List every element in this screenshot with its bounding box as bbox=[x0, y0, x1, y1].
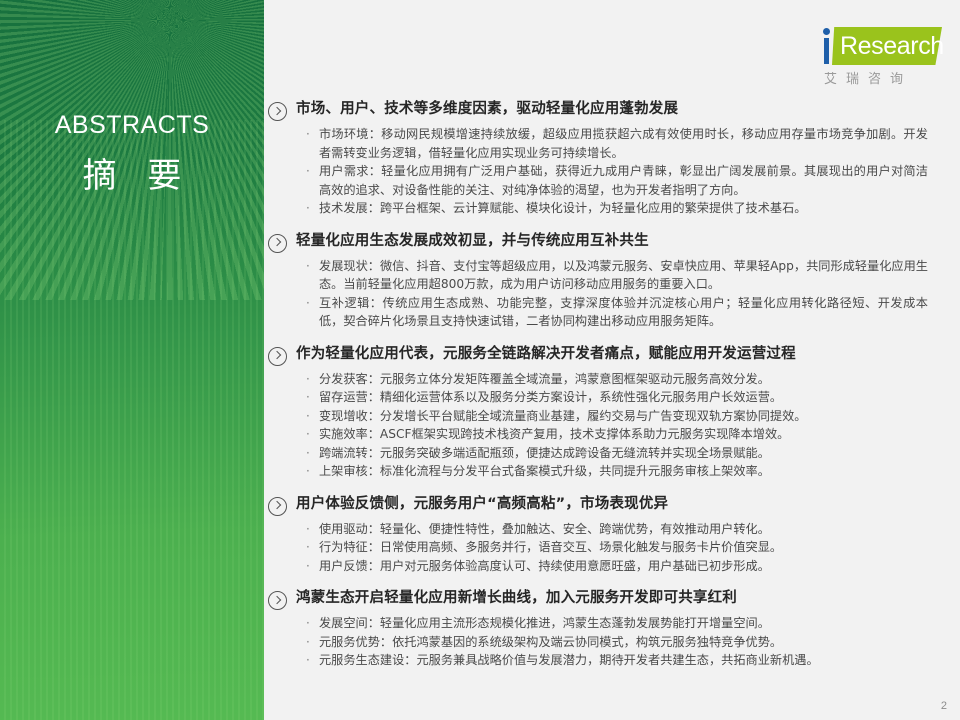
bullet-dot-icon: · bbox=[306, 125, 312, 144]
list-item: ·分发获客：元服务立体分发矩阵覆盖全域流量，鸿蒙意图框架驱动元服务高效分发。 bbox=[268, 370, 928, 389]
bullet-dot-icon: · bbox=[306, 162, 312, 181]
section-header: 轻量化应用生态发展成效初显，并与传统应用互补共生 bbox=[268, 232, 928, 253]
chevron-right-circle-icon bbox=[268, 234, 287, 253]
bullet-dot-icon: · bbox=[306, 538, 312, 557]
vertical-stripe-decoration bbox=[0, 120, 264, 720]
bullet-dot-icon: · bbox=[306, 199, 312, 218]
list-item: ·上架审核：标准化流程与分发平台式备案模式升级，共同提升元服务审核上架效率。 bbox=[268, 462, 928, 481]
list-item: ·互补逻辑：传统应用生态成熟、功能完整，支撑深度体验并沉淀核心用户；轻量化应用转… bbox=[268, 294, 928, 331]
list-item: ·元服务优势：依托鸿蒙基因的系统级架构及端云协同模式，构筑元服务独特竞争优势。 bbox=[268, 633, 928, 652]
logo-i-dot-icon bbox=[823, 28, 830, 35]
bullet-text: 留存运营：精细化运营体系以及服务分类方案设计，系统性强化元服务用户长效运营。 bbox=[319, 388, 928, 407]
bullet-text: 技术发展：跨平台框架、云计算赋能、模块化设计，为轻量化应用的繁荣提供了技术基石。 bbox=[319, 199, 928, 218]
section-header: 市场、用户、技术等多维度因素，驱动轻量化应用蓬勃发展 bbox=[268, 100, 928, 121]
section: 鸿蒙生态开启轻量化应用新增长曲线，加入元服务开发即可共享红利 ·发展空间：轻量化… bbox=[268, 589, 928, 670]
bullet-text: 跨端流转：元服务突破多端适配瓶颈，便捷达成跨设备无缝流转并实现全场景赋能。 bbox=[319, 444, 928, 463]
chevron-right-circle-icon bbox=[268, 102, 287, 121]
bullet-dot-icon: · bbox=[306, 520, 312, 539]
iresearch-logo: Research 艾瑞咨询 bbox=[820, 26, 942, 96]
chevron-right-circle-icon bbox=[268, 497, 287, 516]
section-header: 作为轻量化应用代表，元服务全链路解决开发者痛点，赋能应用开发运营过程 bbox=[268, 345, 928, 366]
bullet-dot-icon: · bbox=[306, 370, 312, 389]
bullet-text: 上架审核：标准化流程与分发平台式备案模式升级，共同提升元服务审核上架效率。 bbox=[319, 462, 928, 481]
section-title: 鸿蒙生态开启轻量化应用新增长曲线，加入元服务开发即可共享红利 bbox=[296, 589, 737, 608]
bullet-text: 互补逻辑：传统应用生态成熟、功能完整，支撑深度体验并沉淀核心用户；轻量化应用转化… bbox=[319, 294, 928, 331]
section-header: 用户体验反馈侧，元服务用户“高频高粘”，市场表现优异 bbox=[268, 495, 928, 516]
bullet-dot-icon: · bbox=[306, 257, 312, 276]
logo-chinese-name: 艾瑞咨询 bbox=[824, 68, 912, 87]
section-title: 用户体验反馈侧，元服务用户“高频高粘”，市场表现优异 bbox=[296, 495, 668, 514]
list-item: ·跨端流转：元服务突破多端适配瓶颈，便捷达成跨设备无缝流转并实现全场景赋能。 bbox=[268, 444, 928, 463]
list-item: ·技术发展：跨平台框架、云计算赋能、模块化设计，为轻量化应用的繁荣提供了技术基石… bbox=[268, 199, 928, 218]
section-header: 鸿蒙生态开启轻量化应用新增长曲线，加入元服务开发即可共享红利 bbox=[268, 589, 928, 610]
list-item: ·发展现状：微信、抖音、支付宝等超级应用，以及鸿蒙元服务、安卓快应用、苹果轻Ap… bbox=[268, 257, 928, 294]
bullet-text: 分发获客：元服务立体分发矩阵覆盖全域流量，鸿蒙意图框架驱动元服务高效分发。 bbox=[319, 370, 928, 389]
list-item: ·发展空间：轻量化应用主流形态规模化推进，鸿蒙生态蓬勃发展势能打开增量空间。 bbox=[268, 614, 928, 633]
section: 用户体验反馈侧，元服务用户“高频高粘”，市场表现优异 ·使用驱动：轻量化、便捷性… bbox=[268, 495, 928, 576]
section-title: 轻量化应用生态发展成效初显，并与传统应用互补共生 bbox=[296, 232, 649, 251]
page-number: 2 bbox=[941, 700, 947, 712]
section-bullet-list: ·发展现状：微信、抖音、支付宝等超级应用，以及鸿蒙元服务、安卓快应用、苹果轻Ap… bbox=[268, 257, 928, 331]
section-title: 市场、用户、技术等多维度因素，驱动轻量化应用蓬勃发展 bbox=[296, 100, 678, 119]
section: 市场、用户、技术等多维度因素，驱动轻量化应用蓬勃发展 ·市场环境：移动网民规模增… bbox=[268, 100, 928, 218]
section: 作为轻量化应用代表，元服务全链路解决开发者痛点，赋能应用开发运营过程 ·分发获客… bbox=[268, 345, 928, 481]
list-item: ·行为特征：日常使用高频、多服务并行，语音交互、场景化触发与服务卡片价值突显。 bbox=[268, 538, 928, 557]
logo-wordmark: Research bbox=[840, 32, 944, 60]
section-bullet-list: ·市场环境：移动网民规模增速持续放缓，超级应用揽获超六成有效使用时长，移动应用存… bbox=[268, 125, 928, 218]
bullet-dot-icon: · bbox=[306, 425, 312, 444]
bullet-dot-icon: · bbox=[306, 444, 312, 463]
abstract-sections: 市场、用户、技术等多维度因素，驱动轻量化应用蓬勃发展 ·市场环境：移动网民规模增… bbox=[268, 100, 928, 684]
bullet-text: 用户反馈：用户对元服务体验高度认可、持续使用意愿旺盛，用户基础已初步形成。 bbox=[319, 557, 928, 576]
section: 轻量化应用生态发展成效初显，并与传统应用互补共生 ·发展现状：微信、抖音、支付宝… bbox=[268, 232, 928, 331]
sidebar-panel: ABSTRACTS 摘 要 bbox=[0, 0, 264, 720]
list-item: ·使用驱动：轻量化、便捷性特性，叠加触达、安全、跨端优势，有效推动用户转化。 bbox=[268, 520, 928, 539]
bullet-text: 市场环境：移动网民规模增速持续放缓，超级应用揽获超六成有效使用时长，移动应用存量… bbox=[319, 125, 928, 162]
bullet-dot-icon: · bbox=[306, 633, 312, 652]
list-item: ·市场环境：移动网民规模增速持续放缓，超级应用揽获超六成有效使用时长，移动应用存… bbox=[268, 125, 928, 162]
slide: ABSTRACTS 摘 要 Research 艾瑞咨询 市场、用户、技术等多维度… bbox=[0, 0, 960, 720]
bullet-text: 使用驱动：轻量化、便捷性特性，叠加触达、安全、跨端优势，有效推动用户转化。 bbox=[319, 520, 928, 539]
bullet-text: 行为特征：日常使用高频、多服务并行，语音交互、场景化触发与服务卡片价值突显。 bbox=[319, 538, 928, 557]
bullet-text: 实施效率：ASCF框架实现跨技术栈资产复用，技术支撑体系助力元服务实现降本增效。 bbox=[319, 425, 928, 444]
bullet-text: 变现增收：分发增长平台赋能全域流量商业基建，履约交易与广告变现双轨方案协同提效。 bbox=[319, 407, 928, 426]
logo-mark: Research bbox=[820, 26, 942, 66]
bullet-dot-icon: · bbox=[306, 557, 312, 576]
bullet-dot-icon: · bbox=[306, 407, 312, 426]
bullet-text: 元服务优势：依托鸿蒙基因的系统级架构及端云协同模式，构筑元服务独特竞争优势。 bbox=[319, 633, 928, 652]
list-item: ·留存运营：精细化运营体系以及服务分类方案设计，系统性强化元服务用户长效运营。 bbox=[268, 388, 928, 407]
list-item: ·元服务生态建设：元服务兼具战略价值与发展潜力，期待开发者共建生态，共拓商业新机… bbox=[268, 651, 928, 670]
chevron-right-circle-icon bbox=[268, 591, 287, 610]
bullet-text: 元服务生态建设：元服务兼具战略价值与发展潜力，期待开发者共建生态，共拓商业新机遇… bbox=[319, 651, 928, 670]
bullet-text: 发展空间：轻量化应用主流形态规模化推进，鸿蒙生态蓬勃发展势能打开增量空间。 bbox=[319, 614, 928, 633]
abstracts-english-title: ABSTRACTS bbox=[0, 112, 264, 140]
list-item: ·用户需求：轻量化应用拥有广泛用户基础，获得近九成用户青睐，彰显出广阔发展前景。… bbox=[268, 162, 928, 199]
bullet-dot-icon: · bbox=[306, 614, 312, 633]
list-item: ·用户反馈：用户对元服务体验高度认可、持续使用意愿旺盛，用户基础已初步形成。 bbox=[268, 557, 928, 576]
bullet-dot-icon: · bbox=[306, 388, 312, 407]
chevron-right-circle-icon bbox=[268, 347, 287, 366]
bullet-dot-icon: · bbox=[306, 462, 312, 481]
abstracts-chinese-title: 摘 要 bbox=[0, 157, 264, 196]
list-item: ·实施效率：ASCF框架实现跨技术栈资产复用，技术支撑体系助力元服务实现降本增效… bbox=[268, 425, 928, 444]
sidebar-title-group: ABSTRACTS 摘 要 bbox=[0, 112, 264, 196]
section-bullet-list: ·发展空间：轻量化应用主流形态规模化推进，鸿蒙生态蓬勃发展势能打开增量空间。 ·… bbox=[268, 614, 928, 670]
bullet-dot-icon: · bbox=[306, 651, 312, 670]
bullet-text: 发展现状：微信、抖音、支付宝等超级应用，以及鸿蒙元服务、安卓快应用、苹果轻App… bbox=[319, 257, 928, 294]
bullet-text: 用户需求：轻量化应用拥有广泛用户基础，获得近九成用户青睐，彰显出广阔发展前景。其… bbox=[319, 162, 928, 199]
list-item: ·变现增收：分发增长平台赋能全域流量商业基建，履约交易与广告变现双轨方案协同提效… bbox=[268, 407, 928, 426]
section-bullet-list: ·分发获客：元服务立体分发矩阵覆盖全域流量，鸿蒙意图框架驱动元服务高效分发。 ·… bbox=[268, 370, 928, 481]
bullet-dot-icon: · bbox=[306, 294, 312, 313]
section-bullet-list: ·使用驱动：轻量化、便捷性特性，叠加触达、安全、跨端优势，有效推动用户转化。 ·… bbox=[268, 520, 928, 576]
logo-i-stem-icon bbox=[824, 38, 829, 64]
section-title: 作为轻量化应用代表，元服务全链路解决开发者痛点，赋能应用开发运营过程 bbox=[296, 345, 796, 364]
